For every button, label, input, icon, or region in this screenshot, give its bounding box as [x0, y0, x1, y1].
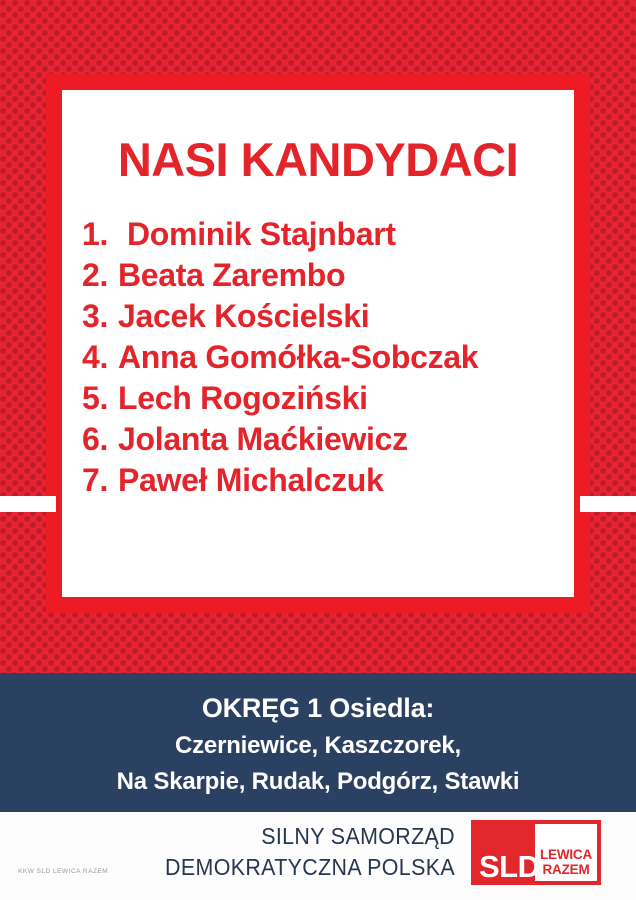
- lewica-label: LEWICA: [535, 847, 597, 862]
- candidate-name: Anna Gomółka-Sobczak: [118, 339, 478, 375]
- slogan-line-1: SILNY SAMORZĄD: [153, 821, 455, 852]
- district-line-3: Na Skarpie, Rudak, Podgórz, Stawki: [0, 758, 636, 794]
- district-band: OKRĘG 1 Osiedla: Czerniewice, Kaszczorek…: [0, 673, 636, 812]
- candidate-name: Jacek Kościelski: [118, 298, 369, 334]
- lewica-razem-text: LEWICA RAZEM: [535, 847, 597, 877]
- slogan: SILNY SAMORZĄD DEMOKRATYCZNA POLSKA: [153, 821, 455, 883]
- candidate-number: 4.: [82, 337, 118, 378]
- candidate-name: Lech Rogoziński: [118, 380, 368, 416]
- candidate-name: Dominik Stajnbart: [127, 216, 396, 252]
- candidate-number: 1.: [82, 214, 127, 255]
- left-white-notch-bar: [0, 496, 56, 512]
- district-heading: OKRĘG 1 Osiedla:: [0, 673, 636, 722]
- sld-wordmark: SLD: [479, 851, 540, 882]
- page-title: NASI KANDYDACI: [62, 136, 574, 183]
- slogan-line-2: DEMOKRATYCZNA POLSKA: [153, 852, 455, 883]
- list-item: 5.Lech Rogoziński: [82, 378, 574, 419]
- candidate-number: 3.: [82, 296, 118, 337]
- list-item: 3.Jacek Kościelski: [82, 296, 574, 337]
- list-item: 7.Paweł Michalczuk: [82, 460, 574, 501]
- sld-lewica-razem-logo: SLD LEWICA RAZEM: [471, 820, 601, 885]
- right-white-notch-bar: [580, 496, 636, 512]
- candidate-list: 1.Dominik Stajnbart 2.Beata Zarembo 3.Ja…: [82, 214, 574, 501]
- candidates-card: NASI KANDYDACI 1.Dominik Stajnbart 2.Bea…: [62, 90, 574, 597]
- candidate-name: Jolanta Maćkiewicz: [118, 421, 408, 457]
- list-item: 6.Jolanta Maćkiewicz: [82, 419, 574, 460]
- candidate-number: 5.: [82, 378, 118, 419]
- district-line-2: Czerniewice, Kaszczorek,: [0, 722, 636, 758]
- lewica-razem-box: LEWICA RAZEM: [535, 824, 597, 881]
- candidate-number: 2.: [82, 255, 118, 296]
- election-poster: NASI KANDYDACI 1.Dominik Stajnbart 2.Bea…: [0, 0, 636, 900]
- list-item: 1.Dominik Stajnbart: [82, 214, 574, 255]
- razem-label: RAZEM: [535, 862, 597, 877]
- candidate-number: 6.: [82, 419, 118, 460]
- committee-note: KKW SLD LEWICA RAZEM: [18, 868, 108, 875]
- candidate-name: Beata Zarembo: [118, 257, 345, 293]
- candidate-number: 7.: [82, 460, 118, 501]
- candidate-name: Paweł Michalczuk: [118, 462, 384, 498]
- list-item: 2.Beata Zarembo: [82, 255, 574, 296]
- list-item: 4.Anna Gomółka-Sobczak: [82, 337, 574, 378]
